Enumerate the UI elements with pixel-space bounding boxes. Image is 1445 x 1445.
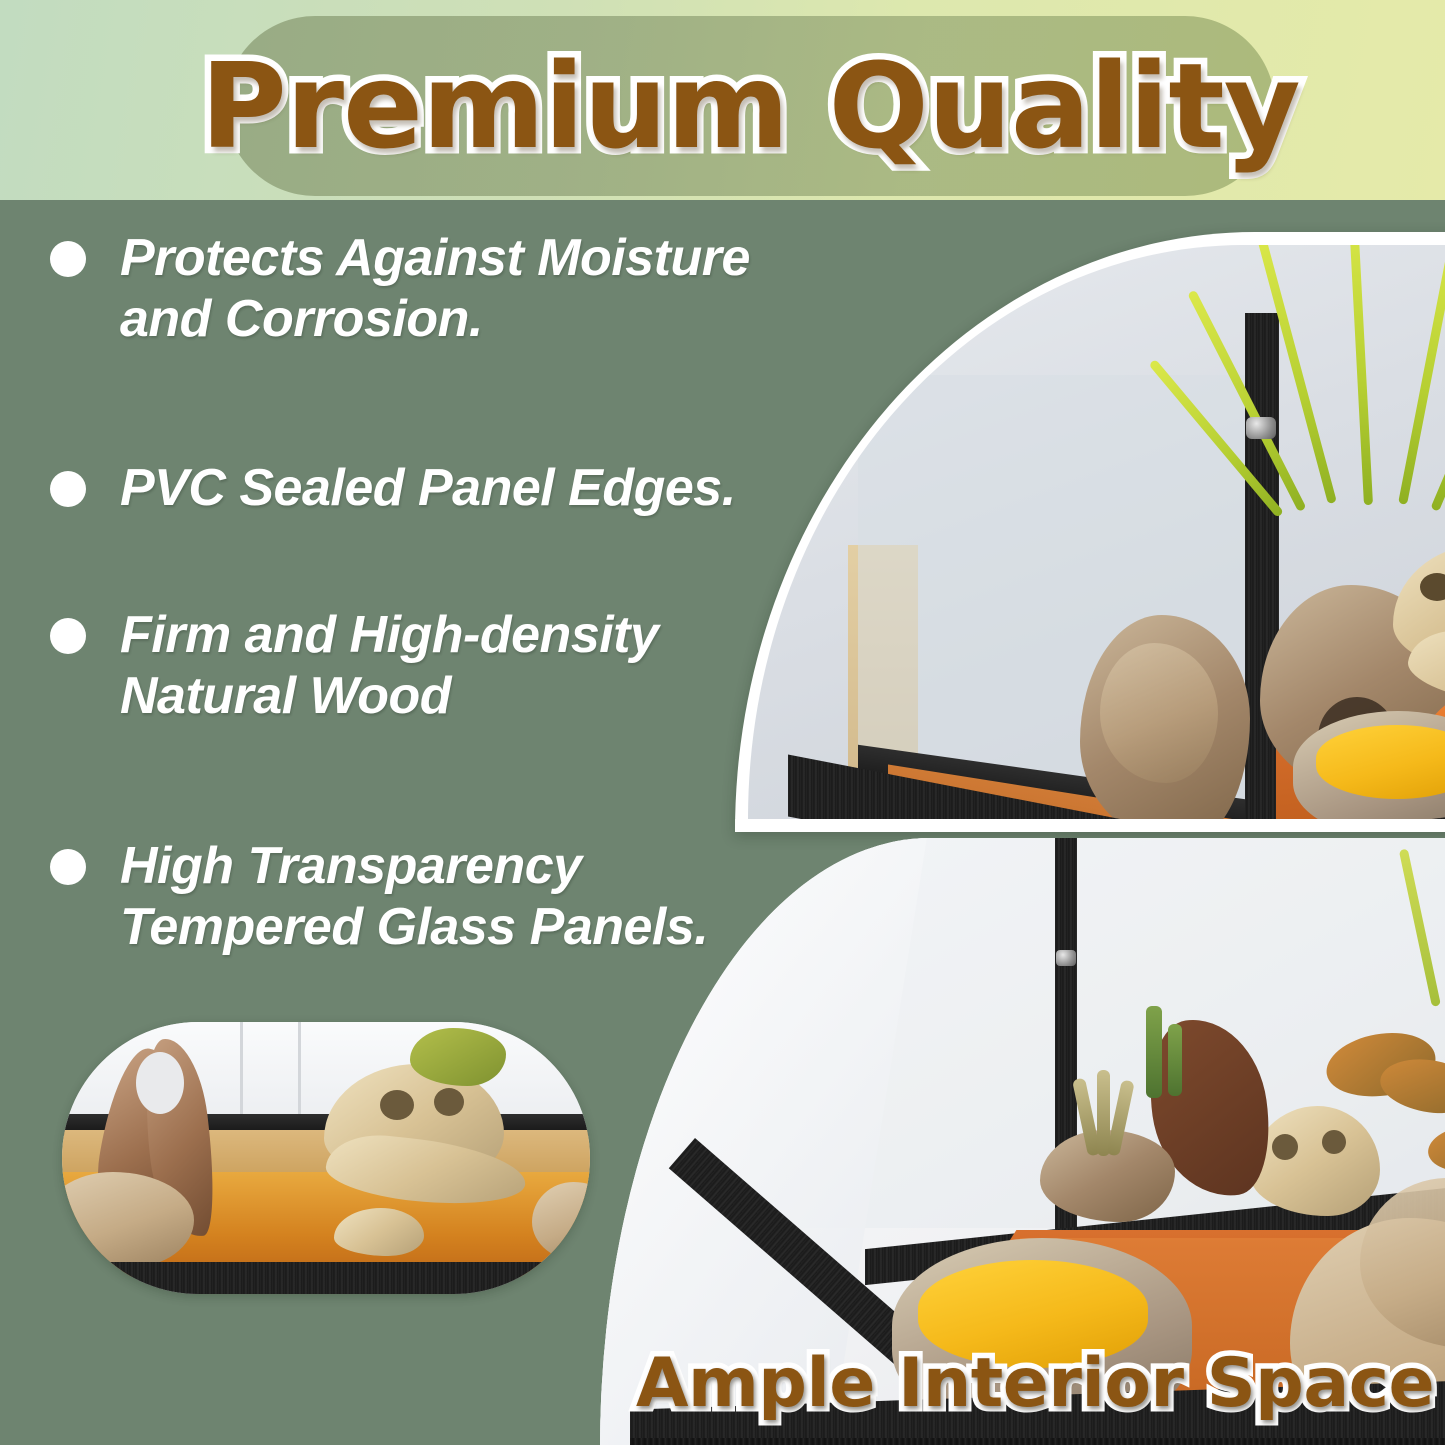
fern-plant-decor (1390, 838, 1445, 1028)
driftwood-arch-gap (136, 1052, 184, 1114)
list-item: Firm and High-density Natural Wood (50, 605, 810, 728)
bullet-dot-icon (50, 618, 86, 654)
screw-icon (1056, 950, 1076, 966)
glass-seam (240, 1022, 243, 1122)
bullet-dot-icon (50, 849, 86, 885)
skull-eye-socket (434, 1088, 464, 1116)
base-rail (62, 1262, 590, 1294)
header-banner: Premium Quality (0, 0, 1445, 200)
terrarium-interior-oval-photo (62, 1022, 590, 1294)
skull-eye-socket (1272, 1134, 1298, 1160)
bullet-dot-icon (50, 471, 86, 507)
bottom-caption: Ample Interior Space (640, 1336, 1430, 1431)
product-infographic: Premium Quality Protects Against Moistur… (0, 0, 1445, 1445)
cactus-decor (1168, 1024, 1182, 1096)
list-item: PVC Sealed Panel Edges. (50, 458, 810, 519)
list-item: Protects Against Moisture and Corrosion. (50, 228, 810, 351)
skull-eye-socket (380, 1090, 414, 1120)
bullet-dot-icon (50, 241, 86, 277)
base-rail-lower (630, 1438, 1445, 1445)
feature-label: Firm and High-density Natural Wood (120, 605, 658, 728)
fern-plant-decor (1268, 232, 1445, 535)
glass-seam (298, 1022, 301, 1122)
skull-eye-socket (1322, 1130, 1346, 1154)
terrarium-corner-closeup-photo (735, 232, 1445, 832)
feature-label: Protects Against Moisture and Corrosion. (120, 228, 750, 351)
plant-decor (410, 1028, 506, 1086)
page-title: Premium Quality (225, 16, 1275, 196)
feature-label: PVC Sealed Panel Edges. (120, 458, 736, 519)
cactus-decor (1146, 1006, 1162, 1098)
screw-icon (1246, 417, 1276, 439)
